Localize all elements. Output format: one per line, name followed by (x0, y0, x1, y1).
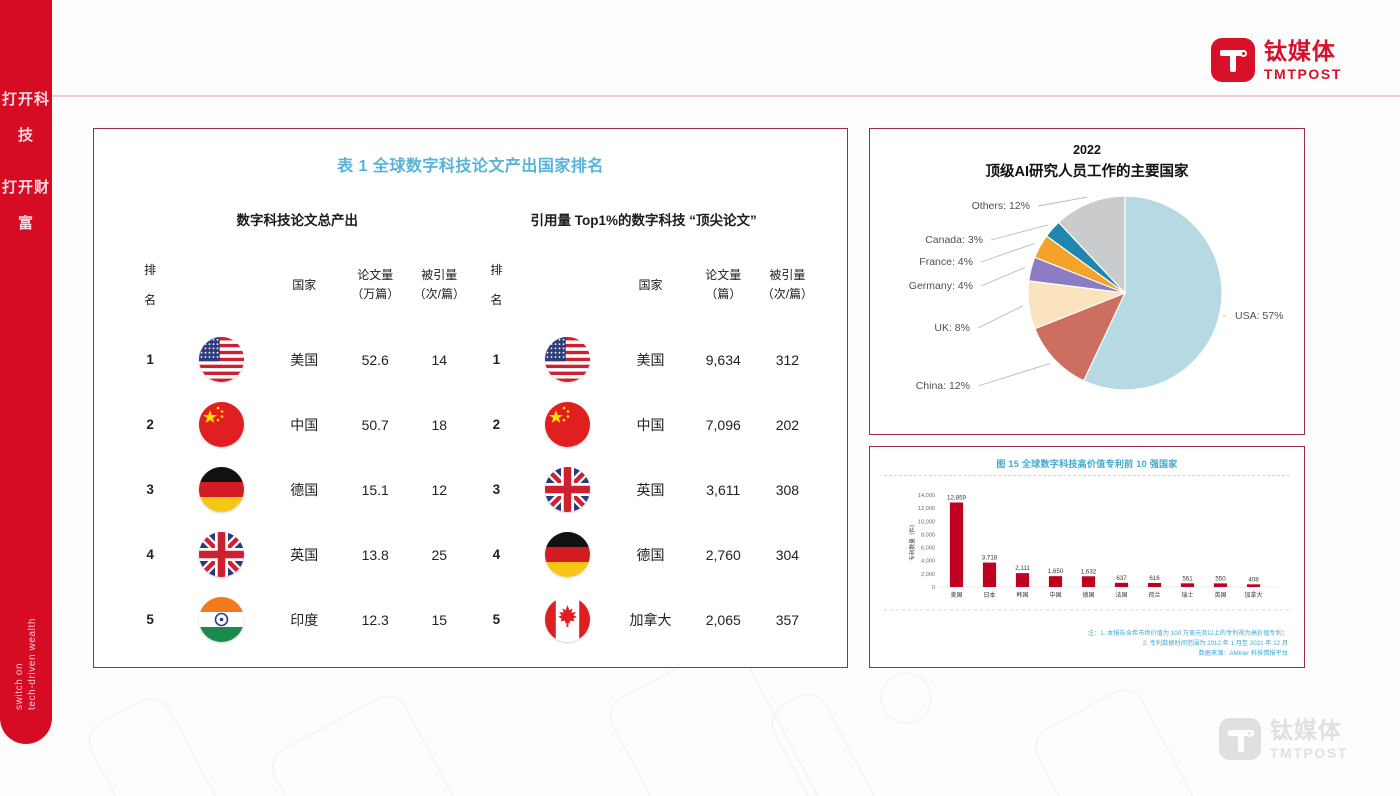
country-name: 德国 (266, 457, 342, 522)
bar-rect (1115, 583, 1128, 587)
rank-number: 1 (470, 327, 522, 392)
bar-rect (1181, 583, 1194, 587)
bar-value-label: 408 (1248, 576, 1259, 583)
bar-chart-panel: 图 15 全球数字科技高价值专利前 10 强国家 02,0004,0006,00… (869, 446, 1305, 668)
canada-flag-icon (545, 597, 590, 642)
background-decoration (1027, 682, 1213, 796)
bar-category-label: 韩国 (1016, 591, 1028, 599)
left-sidebar: 打开科技 打开财富 switch on tech-driven wealth (0, 0, 52, 744)
bar-chart: 02,0004,0006,0008,00010,00012,00014,000专… (870, 477, 1306, 632)
india-flag-icon (199, 597, 244, 642)
bar-y-tick-label: 10,000 (918, 519, 935, 525)
brand-logo: 钛媒体 TMTPOST (1211, 38, 1342, 82)
bar-value-label: 1,632 (1081, 568, 1097, 575)
bar-category-label: 加拿大 (1244, 591, 1262, 599)
bar-value-label: 561 (1182, 575, 1193, 582)
country-flag-cell (176, 522, 266, 587)
col-papers-right: 论文量（篇） (689, 243, 758, 327)
bar-rect (1049, 576, 1062, 587)
bar-rect (983, 563, 996, 587)
sidebar-slogan-line1: 打开科技 (2, 91, 50, 144)
country-name: 中国 (266, 392, 342, 457)
country-flag-cell (522, 522, 612, 587)
pie-leader-line (981, 243, 1035, 262)
papers-value: 12.3 (342, 587, 408, 652)
bar-rect (1082, 576, 1095, 587)
bar-note-2: 2. 专利数据时间范围为 2012 年 1 月至 2021 年 12 月 (1088, 639, 1288, 649)
slide-page: 打开科技 打开财富 switch on tech-driven wealth 钛… (0, 0, 1400, 796)
table-row: 3 德国 15.1 12 3 英国 3,611 308 (124, 457, 817, 522)
bar-y-tick-label: 2,000 (921, 572, 935, 578)
col-papers-left: 论文量（万篇） (342, 243, 408, 327)
bar-category-label: 英国 (1214, 591, 1226, 599)
country-name: 中国 (612, 392, 688, 457)
pie-leader-line (1038, 197, 1087, 206)
bar-y-tick-label: 0 (932, 585, 935, 591)
papers-value: 2,065 (689, 587, 758, 652)
bar-y-tick-label: 8,000 (921, 532, 935, 538)
brand-name-en: TMTPOST (1264, 67, 1342, 81)
bar-value-label: 3,718 (982, 555, 998, 562)
table-row: 4 英国 13.8 25 4 德国 2,760 304 (124, 522, 817, 587)
bar-value-label: 2,111 (1015, 565, 1030, 572)
country-name: 英国 (266, 522, 342, 587)
ranking-table: 数字科技论文总产出 引用量 Top1%的数字科技 “顶尖论文” 排名 国家 论文… (124, 196, 817, 652)
bar-rect (1016, 573, 1029, 587)
bar-category-label: 法国 (1115, 591, 1127, 599)
bar-category-label: 瑞士 (1181, 591, 1193, 599)
col-rank-left: 排名 (124, 243, 176, 327)
pie-leader-line (991, 225, 1048, 240)
papers-value: 7,096 (689, 392, 758, 457)
pie-leader-line (978, 364, 1050, 386)
table-row: 5 印度 12.3 15 5 加拿大 2,065 357 (124, 587, 817, 652)
bar-chart-notes: 注：1. 本报告含希市场价值为 100 万美元及以上的专利视为高价值专利； 2.… (1088, 629, 1288, 659)
tmtpost-watermark-icon (1219, 718, 1261, 760)
rank-number: 4 (124, 522, 176, 587)
rank-number: 5 (124, 587, 176, 652)
rank-number: 5 (470, 587, 522, 652)
rank-number: 3 (124, 457, 176, 522)
germany-flag-icon (199, 467, 244, 512)
country-flag-cell (522, 327, 612, 392)
bar-top-dashed-rule (884, 475, 1290, 476)
col-flag-left (176, 243, 266, 327)
col-rank-right: 排名 (470, 243, 522, 327)
cites-value: 357 (758, 587, 817, 652)
pie-slice-label: USA: 57% (1235, 310, 1283, 322)
bar-chart-title: 图 15 全球数字科技高价值专利前 10 强国家 (870, 457, 1304, 470)
bar-note-3: 数据来源：AMiner 科技情报平台 (1088, 649, 1288, 659)
background-decoration (81, 690, 250, 796)
pie-slice-label: France: 4% (919, 256, 973, 268)
rank-number: 4 (470, 522, 522, 587)
country-name: 德国 (612, 522, 688, 587)
bar-rect (1247, 584, 1260, 587)
rank-number: 2 (470, 392, 522, 457)
table-title: 表 1 全球数字科技论文产出国家排名 (94, 152, 847, 176)
watermark-name-en: TMTPOST (1270, 746, 1348, 760)
bar-rect (1214, 583, 1227, 587)
country-name: 美国 (612, 327, 688, 392)
country-name: 加拿大 (612, 587, 688, 652)
bar-y-tick-label: 4,000 (921, 559, 935, 565)
bar-category-label: 德国 (1082, 591, 1094, 599)
bar-value-label: 1,650 (1048, 568, 1064, 575)
papers-value: 2,760 (689, 522, 758, 587)
sidebar-slogan-line2: 打开财富 (2, 179, 50, 232)
pie-slice-label: Germany: 4% (909, 280, 973, 292)
bar-rect (1148, 583, 1161, 587)
china-flag-icon (199, 402, 244, 447)
rank-number: 2 (124, 392, 176, 457)
col-country-right: 国家 (612, 243, 688, 327)
cites-value: 25 (408, 522, 470, 587)
bar-rect (950, 502, 963, 587)
country-flag-cell (522, 587, 612, 652)
pie-slice-label: China: 12% (916, 380, 970, 392)
papers-value: 3,611 (689, 457, 758, 522)
pie-title-year: 2022 (870, 143, 1304, 157)
country-name: 英国 (612, 457, 688, 522)
col-cites-left: 被引量（次/篇） (408, 243, 470, 327)
bar-y-tick-label: 14,000 (918, 493, 935, 499)
cites-value: 18 (408, 392, 470, 457)
bar-note-1: 注：1. 本报告含希市场价值为 100 万美元及以上的专利视为高价值专利； (1088, 629, 1288, 639)
bar-value-label: 12,859 (947, 494, 966, 501)
china-flag-icon (545, 402, 590, 447)
bar-value-label: 616 (1149, 575, 1160, 582)
country-flag-cell (522, 392, 612, 457)
country-flag-cell (522, 457, 612, 522)
pie-leader-line (981, 267, 1025, 286)
ranking-table-panel: 表 1 全球数字科技论文产出国家排名 数字科技论文总产出 引用量 Top1%的数… (93, 128, 848, 668)
bar-category-label: 荷兰 (1148, 591, 1160, 599)
col-country-left: 国家 (266, 243, 342, 327)
bar-value-label: 637 (1116, 575, 1127, 582)
bar-value-label: 550 (1215, 575, 1226, 582)
footer-watermark: 钛媒体 TMTPOST (1219, 718, 1348, 760)
table-row: 1 美国 52.6 14 1 美国 9,634 312 (124, 327, 817, 392)
group-header-left: 数字科技论文总产出 (124, 196, 470, 243)
papers-value: 9,634 (689, 327, 758, 392)
bar-y-tick-label: 12,000 (918, 506, 935, 512)
sidebar-slogan: 打开科技 打开财富 (0, 82, 52, 242)
ranking-table-body: 1 美国 52.6 14 1 美国 9,634 312 2 中国 50.7 18… (124, 327, 817, 652)
col-flag-right (522, 243, 612, 327)
papers-value: 15.1 (342, 457, 408, 522)
pie-slice-label: Others: 12% (972, 200, 1030, 212)
usa-flag-icon (545, 337, 590, 382)
cites-value: 312 (758, 327, 817, 392)
cites-value: 15 (408, 587, 470, 652)
pie-slice-label: Canada: 3% (925, 234, 983, 246)
brand-name-cn: 钛媒体 (1264, 40, 1342, 63)
table-row: 2 中国 50.7 18 2 中国 7,096 202 (124, 392, 817, 457)
bar-category-label: 美国 (950, 591, 962, 599)
country-flag-cell (176, 327, 266, 392)
cites-value: 12 (408, 457, 470, 522)
papers-value: 50.7 (342, 392, 408, 457)
cites-value: 308 (758, 457, 817, 522)
bar-category-label: 日本 (983, 591, 995, 599)
tmtpost-logo-icon (1211, 38, 1255, 82)
header-divider (52, 95, 1400, 97)
papers-value: 52.6 (342, 327, 408, 392)
uk-flag-icon (199, 532, 244, 577)
cites-value: 202 (758, 392, 817, 457)
cites-value: 14 (408, 327, 470, 392)
cites-value: 304 (758, 522, 817, 587)
watermark-name-cn: 钛媒体 (1270, 719, 1348, 742)
background-decoration (871, 663, 941, 733)
pie-slice-label: UK: 8% (934, 322, 970, 334)
pie-chart-panel: 2022 顶级AI研究人员工作的主要国家 USA: 57%China: 12%U… (869, 128, 1305, 435)
group-header-right: 引用量 Top1%的数字科技 “顶尖论文” (470, 196, 816, 243)
sidebar-slogan-english: switch on tech-driven wealth (13, 618, 39, 710)
country-flag-cell (176, 587, 266, 652)
germany-flag-icon (545, 532, 590, 577)
bar-y-axis-title: 专利数量（件） (908, 521, 916, 560)
country-flag-cell (176, 392, 266, 457)
rank-number: 3 (470, 457, 522, 522)
papers-value: 13.8 (342, 522, 408, 587)
country-name: 印度 (266, 587, 342, 652)
uk-flag-icon (545, 467, 590, 512)
country-name: 美国 (266, 327, 342, 392)
pie-leader-line (1223, 315, 1226, 316)
col-cites-right: 被引量（次/篇） (758, 243, 817, 327)
pie-chart: USA: 57%China: 12%UK: 8%Germany: 4%Franc… (870, 171, 1306, 433)
usa-flag-icon (199, 337, 244, 382)
bar-category-label: 中国 (1049, 591, 1061, 599)
pie-leader-line (978, 306, 1023, 328)
rank-number: 1 (124, 327, 176, 392)
country-flag-cell (176, 457, 266, 522)
background-decoration (264, 688, 486, 796)
bar-y-tick-label: 6,000 (921, 546, 935, 552)
